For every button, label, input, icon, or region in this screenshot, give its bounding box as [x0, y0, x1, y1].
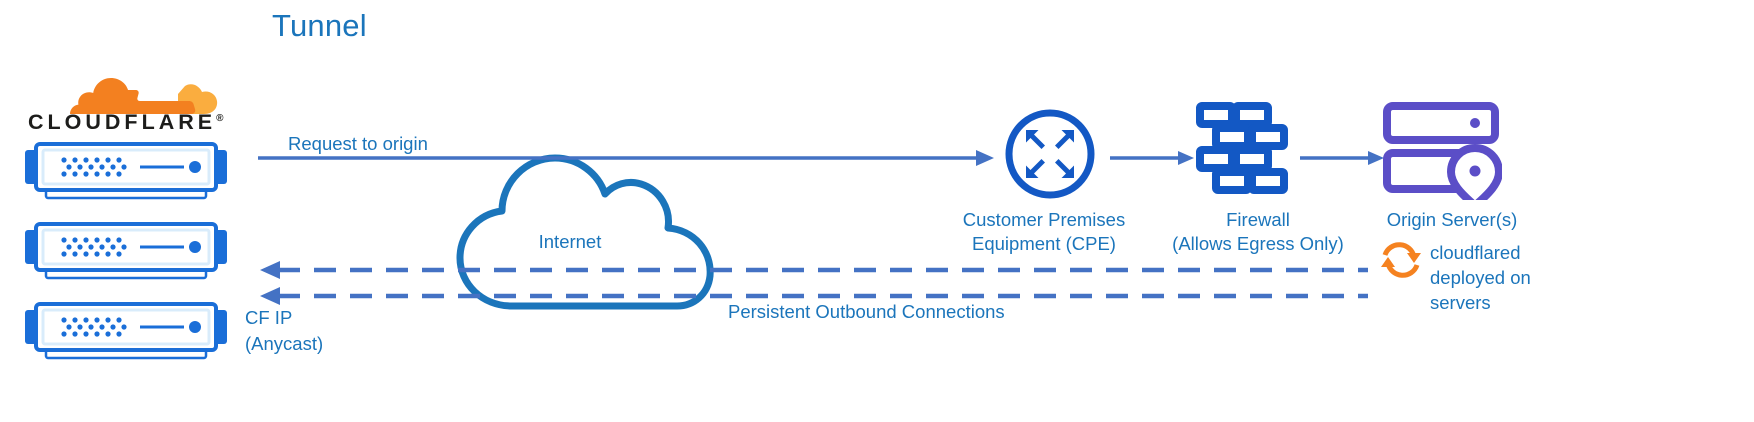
- brick-wall-icon: [1196, 100, 1288, 196]
- cloudflare-logo: CLOUDFLARE®: [28, 72, 228, 138]
- persistent-outbound-label: Persistent Outbound Connections: [728, 301, 1005, 323]
- cpe-label: Customer Premises Equipment (CPE): [944, 208, 1144, 256]
- server-box-2: [22, 218, 218, 284]
- internet-label: Internet: [500, 231, 640, 253]
- cloudflared-note-label: cloudflared deployed on servers: [1430, 240, 1542, 315]
- cf-ip-label: CF IP (Anycast): [245, 305, 323, 357]
- refresh-sync-icon: [1378, 238, 1424, 282]
- origin-server-pin-icon: [1382, 98, 1502, 200]
- firewall-label: Firewall (Allows Egress Only): [1158, 208, 1358, 256]
- cpe-inward-arrows-icon: [1004, 108, 1096, 200]
- server-icon: [25, 144, 227, 198]
- origin-server-label: Origin Server(s): [1372, 208, 1532, 232]
- request-to-origin-label: Request to origin: [288, 133, 428, 155]
- cloudflared-icon-wrap: [1378, 238, 1424, 287]
- tunnel-diagram-canvas: Tunnel CLOUDFLARE®: [0, 0, 1754, 422]
- server-box-1: [22, 138, 218, 204]
- server-icon: [25, 304, 227, 358]
- firewall-icon-wrap: [1196, 100, 1288, 201]
- firewall-to-origin-arrow: [1300, 148, 1386, 173]
- page-title: Tunnel: [272, 8, 367, 44]
- server-box-3: [22, 298, 218, 364]
- cpe-icon-wrap: [1004, 108, 1096, 205]
- server-icon: [25, 224, 227, 278]
- cloudflare-wordmark: CLOUDFLARE®: [28, 110, 223, 135]
- origin-server-icon-wrap: [1382, 98, 1502, 205]
- cpe-to-firewall-arrow: [1110, 148, 1196, 173]
